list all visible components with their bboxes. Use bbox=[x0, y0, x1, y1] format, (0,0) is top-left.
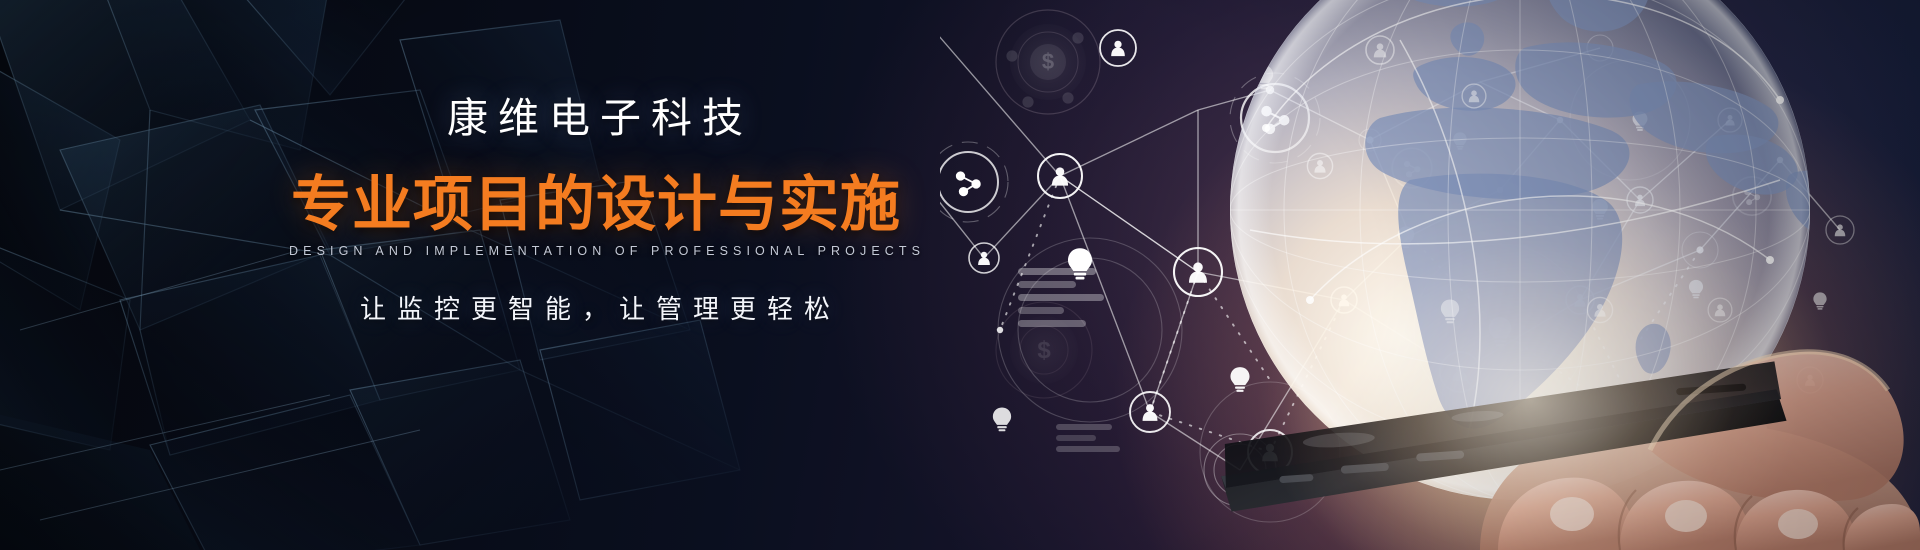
tagline: 让监控更智能，让管理更轻松 bbox=[286, 289, 906, 326]
headline: 专业项目的设计与实施 bbox=[286, 174, 906, 235]
lightbulb-node bbox=[993, 408, 1011, 432]
person-node bbox=[969, 243, 999, 273]
english-subtitle: DESIGN AND IMPLEMENTATION OF PROFESSIONA… bbox=[286, 244, 906, 258]
banner-copy: 康维电子科技 专业项目的设计与实施 DESIGN AND IMPLEMENTAT… bbox=[286, 96, 906, 326]
hand-holding-phone-graphic bbox=[1180, 300, 1920, 550]
svg-text:$: $ bbox=[1042, 49, 1054, 74]
svg-text:$: $ bbox=[1037, 337, 1051, 364]
person-node bbox=[1038, 154, 1082, 198]
hero-banner: $ $ bbox=[0, 0, 1920, 550]
brand-title: 康维电子科技 bbox=[286, 96, 906, 141]
share-node bbox=[940, 142, 1008, 222]
